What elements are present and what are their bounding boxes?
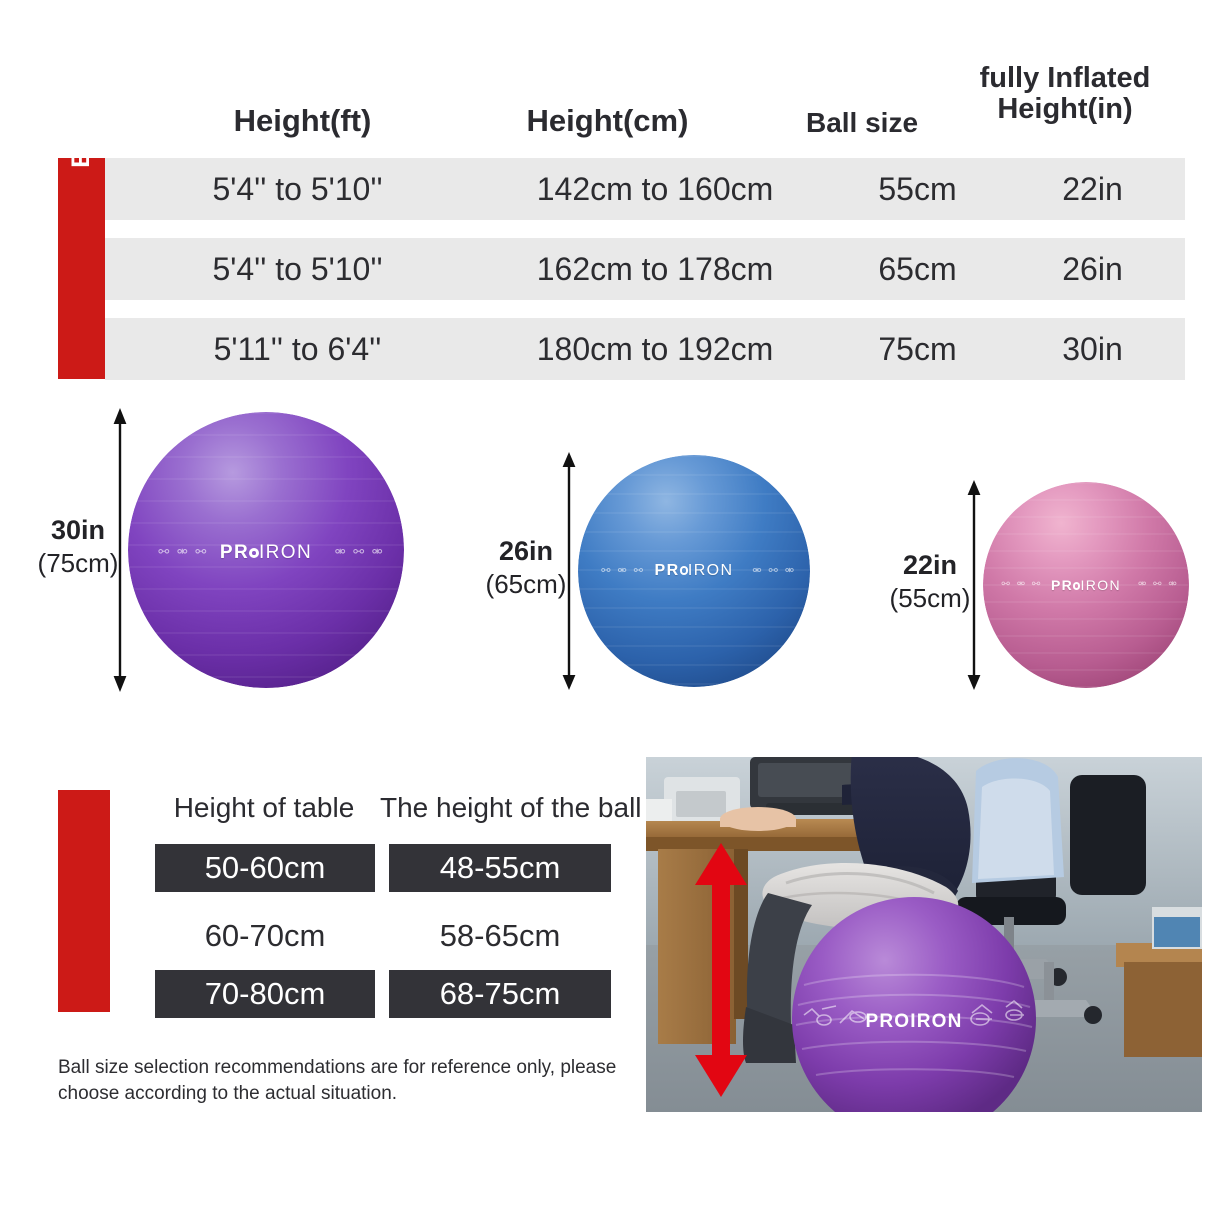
- table-row: 5'4'' to 5'10'' 162cm to 178cm 65cm 26in: [105, 238, 1185, 300]
- table-row: 5'11'' to 6'4'' 180cm to 192cm 75cm 30in: [105, 318, 1185, 380]
- blue-ball-65cm: PRIRON ⚯ ⚮ ⚯ ⚮ ⚯ ⚮: [578, 455, 810, 687]
- dimension-inches: 30in: [51, 515, 105, 545]
- cell-inflated-height: 22in: [1000, 171, 1185, 208]
- inflated-header-line2: Height(in): [997, 93, 1132, 125]
- dimension-inches: 22in: [903, 550, 957, 580]
- brand-pro: PR: [655, 562, 680, 579]
- purple-ball-75cm: PRIRON ⚯ ⚮ ⚯ ⚮ ⚯ ⚮: [128, 412, 404, 688]
- exercise-size-chart: Height(ft) Height(cm) Ball size fully In…: [0, 0, 1214, 390]
- cell-ball-size: 75cm: [835, 331, 1000, 368]
- column-header-table-height: Height of table: [155, 792, 373, 824]
- cell-height-cm: 142cm to 160cm: [475, 171, 835, 208]
- brand-iron: IRON: [688, 562, 734, 579]
- cell-table-height: 50-60cm: [155, 844, 375, 892]
- cell-table-height: 70-80cm: [155, 970, 375, 1018]
- cell-ball-height: 48-55cm: [389, 844, 611, 892]
- brand-pro: PR: [1051, 577, 1073, 593]
- exercise-pictogram-icon: ⚮ ⚯ ⚮: [752, 564, 796, 577]
- cell-height-cm: 180cm to 192cm: [475, 331, 835, 368]
- photo-illustration: PROIRON: [646, 757, 1202, 1112]
- column-header-height-ft: Height(ft): [125, 104, 480, 137]
- photo-ball-brand: PROIRON: [865, 1011, 962, 1032]
- cell-inflated-height: 30in: [1000, 331, 1185, 368]
- column-header-height-cm: Height(cm): [430, 104, 785, 137]
- brand-o-ring: [680, 566, 688, 574]
- dimension-label-55cm: 22in (55cm): [886, 549, 974, 615]
- exercise-pictogram-icon: ⚯ ⚮ ⚯: [1002, 579, 1043, 590]
- brand-pro: PR: [220, 542, 249, 563]
- brand-iron: IRON: [259, 542, 312, 563]
- office-ball-chair-photo: PROIRON: [646, 757, 1202, 1112]
- exercise-tab-label: EXERCISE: [58, 0, 105, 205]
- dimension-inches: 26in: [499, 536, 553, 566]
- brand-o-ring: [249, 548, 259, 558]
- cell-ball-height: 58-65cm: [389, 912, 611, 960]
- cell-ball-size: 65cm: [835, 251, 1000, 288]
- dimension-cm: (55cm): [886, 582, 974, 614]
- cell-table-height: 60-70cm: [155, 912, 375, 960]
- column-header-inflated-height: fully Inflated Height(in): [940, 63, 1190, 126]
- disclaimer-text: Ball size selection recommendations are …: [58, 1055, 638, 1106]
- inflated-header-line1: fully Inflated: [980, 62, 1151, 94]
- exercise-pictogram-icon: ⚮ ⚯ ⚮: [335, 544, 385, 560]
- exercise-pictogram-icon: ⚮ ⚯ ⚮: [1138, 579, 1179, 590]
- cell-height-ft: 5'11'' to 6'4'': [120, 331, 475, 368]
- exercise-pictogram-icon: ⚯ ⚮ ⚯: [158, 544, 208, 560]
- cell-ball-size: 55cm: [835, 171, 1000, 208]
- column-header-ball-height: The height of the ball: [380, 792, 618, 824]
- brand-iron: IRON: [1080, 577, 1121, 593]
- exercise-pictogram-icon: ⚯ ⚮ ⚯: [601, 564, 645, 577]
- pink-ball-55cm: PRIRON ⚯ ⚮ ⚯ ⚮ ⚯ ⚮: [983, 482, 1189, 688]
- cell-height-ft: 5'4'' to 5'10'': [120, 251, 475, 288]
- cell-ball-height: 68-75cm: [389, 970, 611, 1018]
- cell-inflated-height: 26in: [1000, 251, 1185, 288]
- table-row: 5'4'' to 5'10'' 142cm to 160cm 55cm 22in: [105, 158, 1185, 220]
- ball-size-comparison: 30in (75cm) PRIRON ⚯ ⚮ ⚯ ⚮ ⚯ ⚮ 26in (65c…: [0, 392, 1214, 712]
- cell-height-ft: 5'4'' to 5'10'': [120, 171, 475, 208]
- column-header-ball-size: Ball size: [782, 108, 942, 138]
- cell-height-cm: 162cm to 178cm: [475, 251, 835, 288]
- infographic-root: Height(ft) Height(cm) Ball size fully In…: [0, 0, 1214, 1214]
- chair-tab-label: CHAIR: [58, 620, 110, 842]
